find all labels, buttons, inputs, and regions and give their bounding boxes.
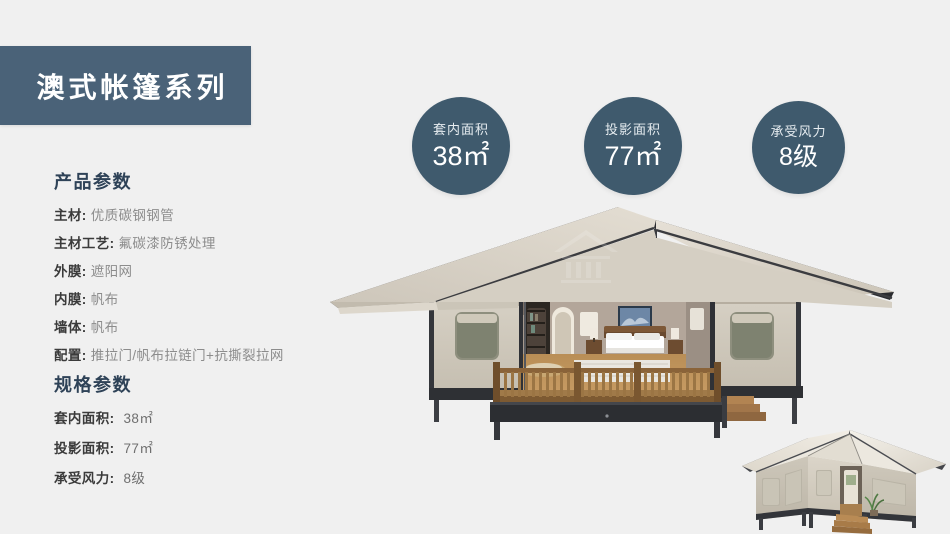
param-value: 氟碳漆防锈处理 (119, 232, 216, 252)
param-value: 77㎡ (124, 437, 154, 457)
param-row: 墙体: 帆布 (54, 316, 284, 344)
stat-circle-projected-area: 投影面积 77㎡ (584, 97, 682, 195)
param-label: 内膜: (54, 288, 87, 308)
param-value: 38㎡ (124, 407, 154, 427)
title-banner: 澳式帐篷系列 (0, 46, 251, 125)
stat-value: 38㎡ (432, 143, 489, 170)
param-row: 主材: 优质碳钢钢管 (54, 204, 284, 232)
small-tent-right-wall (862, 464, 916, 528)
param-value: 遮阳网 (91, 260, 133, 280)
param-row: 主材工艺: 氟碳漆防锈处理 (54, 232, 284, 260)
param-value: 推拉门/帆布拉链门+抗撕裂拉网 (91, 344, 284, 364)
param-label: 主材: (54, 204, 87, 224)
product-parameters-heading: 产品参数 (54, 168, 284, 194)
param-value: 帆布 (91, 288, 119, 308)
slide-canvas: 澳式帐篷系列 产品参数 主材: 优质碳钢钢管 主材工艺: 氟碳漆防锈处理 外膜:… (0, 0, 950, 534)
param-row: 配置: 推拉门/帆布拉链门+抗撕裂拉网 (54, 344, 284, 372)
param-label: 外膜: (54, 260, 87, 280)
param-value: 优质碳钢钢管 (91, 204, 174, 224)
param-label: 套内面积: (54, 407, 115, 427)
param-label: 配置: (54, 344, 87, 364)
param-row: 承受风力: 8级 (54, 467, 153, 497)
param-label: 主材工艺: (54, 232, 115, 252)
param-value: 帆布 (91, 316, 119, 336)
tent-roof (330, 207, 894, 314)
param-label: 投影面积: (54, 437, 115, 457)
stat-label: 承受风力 (770, 125, 826, 138)
stat-circle-indoor-area: 套内面积 38㎡ (412, 97, 510, 195)
stat-value: 8级 (779, 145, 818, 170)
small-tent-steps (832, 514, 872, 534)
page-title: 澳式帐篷系列 (22, 66, 228, 106)
product-parameters-section: 产品参数 主材: 优质碳钢钢管 主材工艺: 氟碳漆防锈处理 外膜: 遮阳网 内膜… (54, 168, 284, 372)
size-parameters-heading: 规格参数 (54, 371, 153, 397)
param-row: 外膜: 遮阳网 (54, 260, 284, 288)
param-row: 套内面积: 38㎡ (54, 407, 153, 437)
small-tent-illustration (740, 418, 950, 534)
stat-label: 投影面积 (605, 123, 661, 136)
param-row: 投影面积: 77㎡ (54, 437, 153, 467)
param-label: 承受风力: (54, 467, 115, 487)
stat-value: 77㎡ (604, 143, 661, 170)
stat-circle-wind-resistance: 承受风力 8级 (752, 101, 845, 194)
small-tent-image (740, 418, 950, 534)
param-row: 内膜: 帆布 (54, 288, 284, 316)
stat-label: 套内面积 (433, 123, 489, 136)
param-label: 墙体: (54, 316, 87, 336)
size-parameters-section: 规格参数 套内面积: 38㎡ 投影面积: 77㎡ 承受风力: 8级 (54, 371, 153, 497)
param-value: 8级 (124, 467, 146, 487)
